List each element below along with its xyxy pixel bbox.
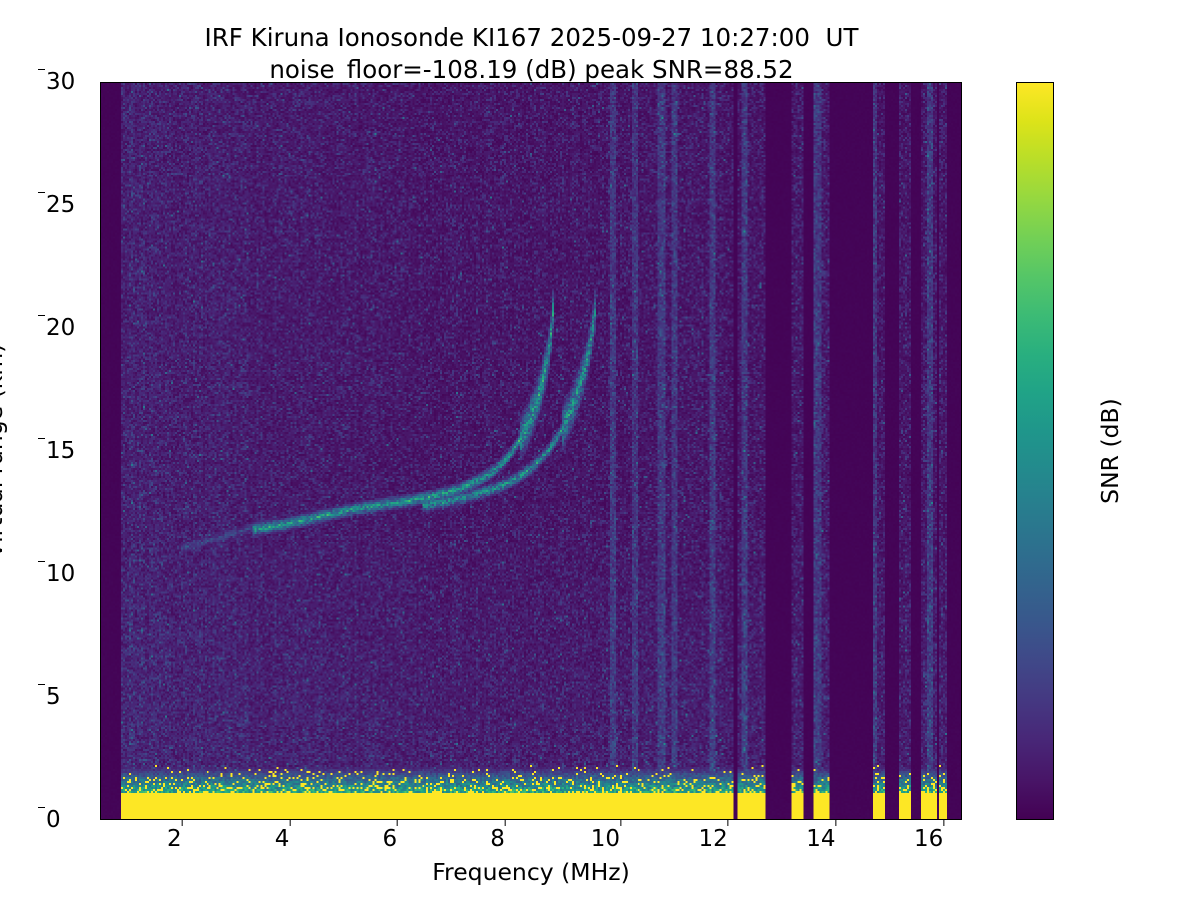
colorbar-tick-label: 5 (46, 684, 61, 710)
x-tick-label: 8 (490, 826, 505, 852)
ionogram-plot-area[interactable] (100, 82, 962, 820)
x-tick-mark (835, 819, 836, 826)
x-axis-label: Frequency (MHz) (432, 858, 630, 886)
colorbar-tick-mark (38, 561, 45, 562)
x-tick-label: 2 (167, 826, 182, 852)
x-tick-label: 12 (698, 826, 727, 852)
title-line-2: noise_floor=-108.19 (dB) peak SNR=88.52 (0, 54, 1063, 86)
colorbar-tick-mark (38, 315, 45, 316)
y-axis-label: Virtual range (km) (0, 344, 8, 559)
colorbar-tick-mark (38, 192, 45, 193)
x-tick-mark (620, 819, 621, 826)
figure-title: IRF Kiruna Ionosonde KI167 2025-09-27 10… (0, 22, 1063, 86)
ionogram-figure: IRF Kiruna Ionosonde KI167 2025-09-27 10… (0, 0, 1200, 900)
x-tick-mark (397, 819, 398, 826)
colorbar-label: SNR (dB) (1096, 398, 1124, 504)
colorbar-tick-label: 30 (46, 69, 75, 95)
colorbar[interactable] (1016, 82, 1054, 820)
x-tick-label: 10 (591, 826, 620, 852)
colorbar-tick-label: 15 (46, 438, 75, 464)
x-tick-label: 14 (806, 826, 835, 852)
colorbar-tick-mark (38, 69, 45, 70)
x-tick-label: 16 (914, 826, 943, 852)
colorbar-tick-mark (38, 807, 45, 808)
colorbar-tick-mark (38, 438, 45, 439)
colorbar-tick-label: 0 (46, 807, 61, 833)
x-tick-label: 6 (383, 826, 398, 852)
x-tick-mark (943, 819, 944, 826)
x-tick-label: 4 (275, 826, 290, 852)
colorbar-gradient (1017, 83, 1053, 819)
colorbar-tick-label: 10 (46, 561, 75, 587)
title-line-1: IRF Kiruna Ionosonde KI167 2025-09-27 10… (0, 22, 1063, 54)
x-tick-mark (505, 819, 506, 826)
colorbar-tick-label: 25 (46, 192, 75, 218)
ionogram-heatmap (101, 83, 961, 819)
x-tick-mark (182, 819, 183, 826)
colorbar-tick-label: 20 (46, 315, 75, 341)
x-tick-mark (289, 819, 290, 826)
colorbar-tick-mark (38, 684, 45, 685)
x-tick-mark (728, 819, 729, 826)
